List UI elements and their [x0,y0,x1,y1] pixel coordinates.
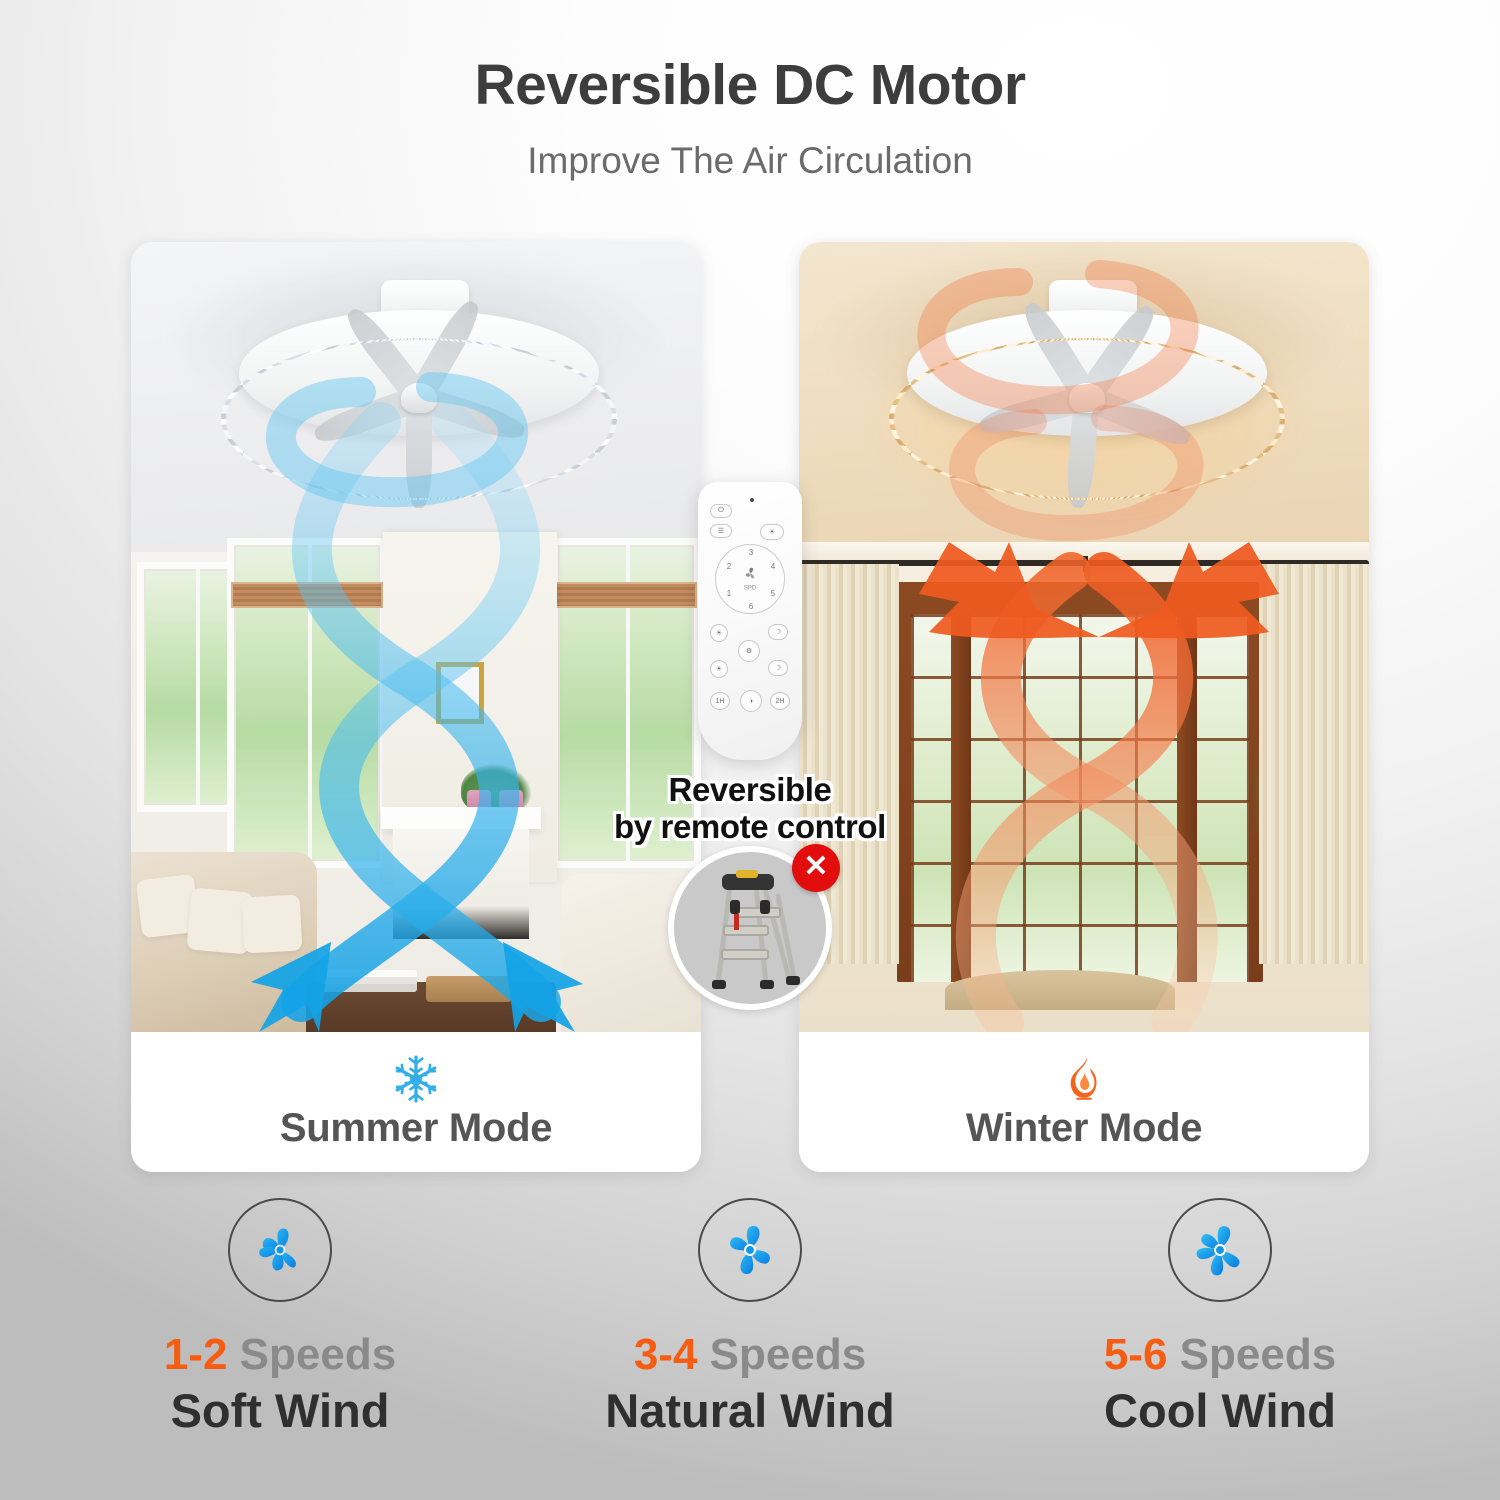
prohibition-badge: ✕ [792,844,840,892]
curtain-right [1259,564,1369,964]
dial-number-4[interactable]: 4 [768,562,778,571]
summer-mode-label: Summer Mode [131,1032,701,1172]
speed-range-line-3: 5-6 Speeds [995,1332,1445,1378]
snowflake-icon [391,1054,441,1104]
fan-badge-2 [698,1198,802,1302]
gear-icon: ⚙ [746,647,752,655]
timer-2h-button[interactable]: 2H [770,692,790,710]
brightness-down-button[interactable]: ☀ [710,660,728,678]
timer-toggle-button[interactable]: ◑ [740,690,762,712]
dial-number-1[interactable]: 1 [724,589,734,598]
fan-icon [717,1217,783,1283]
half-moon-icon: ◑ [749,698,753,705]
speed-range-line-2: 3-4 Speeds [525,1332,975,1378]
menu-icon: ☰ [718,527,724,535]
dial-number-2[interactable]: 2 [724,562,734,571]
moon-icon: ☽ [775,664,781,672]
page-subtitle: Improve The Air Circulation [0,140,1500,182]
crystal-light-ring [221,338,617,500]
fan-badge-3 [1168,1198,1272,1302]
timer-1h-label: 1H [716,698,725,705]
page-title: Reversible DC Motor [0,56,1500,116]
dial-number-5[interactable]: 5 [768,589,778,598]
serving-tray [426,976,512,1002]
speed-tier-3: 5-6 Speeds Cool Wind [995,1198,1445,1436]
timer-1h-button[interactable]: 1H [710,692,730,710]
reversible-caption: Reversible by remote control [0,772,1500,846]
header: Reversible DC Motor Improve The Air Circ… [0,56,1500,182]
brightness-up-button[interactable]: ☀ [710,624,728,642]
framed-picture [436,662,484,724]
wind-type-2: Natural Wind [525,1386,975,1435]
ceiling-fan-fixture-summer [199,276,639,546]
no-ladder-badge: ✕ [668,846,832,1010]
books-stack [321,970,417,992]
summer-scene [131,242,701,1032]
summer-mode-text: Summer Mode [280,1106,552,1151]
close-icon: ✕ [803,852,828,882]
fan-icon [247,1217,313,1283]
remote-led-indicator [750,498,754,502]
speed-range-2: 3-4 [634,1330,698,1379]
infographic-canvas: Reversible DC Motor Improve The Air Circ… [0,0,1500,1500]
power-button[interactable]: ⏻ [710,504,732,518]
remote-body: ⏻ ☰ ☀ 3 2 4 1 5 6 [698,482,802,760]
sun-icon: ☀ [716,665,722,673]
window-blind-left [231,582,383,608]
fan-icon [1187,1217,1253,1283]
light-button[interactable]: ☀ [760,524,784,540]
speed-unit-3: Speeds [1180,1330,1337,1379]
dial-number-6[interactable]: 6 [746,602,756,611]
winter-mode-panel: Winter Mode [799,242,1369,1172]
moon-icon: ☽ [775,628,781,636]
winter-scene [799,242,1369,1032]
sun-icon: ☀ [716,629,722,637]
speed-unit-1: Speeds [240,1330,397,1379]
speed-range-1: 1-2 [164,1330,228,1379]
window-blind-right [555,582,697,608]
caption-line-2: by remote control [0,809,1500,846]
power-icon: ⏻ [718,507,724,515]
mode-button[interactable]: ☰ [710,524,732,538]
winter-mode-label: Winter Mode [799,1032,1369,1172]
dial-number-3[interactable]: 3 [746,548,756,557]
speed-tier-2: 3-4 Speeds Natural Wind [525,1198,975,1436]
wind-type-3: Cool Wind [995,1386,1445,1435]
speed-dial[interactable]: 3 2 4 1 5 6 SPD [715,544,785,614]
fan-badge-1 [228,1198,332,1302]
center-function-button[interactable]: ⚙ [738,640,760,662]
speed-unit-2: Speeds [710,1330,867,1379]
wind-type-1: Soft Wind [55,1386,505,1435]
speed-range-line-1: 1-2 Speeds [55,1332,505,1378]
dial-center-label: SPD [742,586,758,592]
winter-mode-text: Winter Mode [966,1106,1202,1151]
sun-icon: ☀ [769,528,775,536]
flame-icon [1059,1054,1109,1104]
speed-range-3: 5-6 [1104,1330,1168,1379]
crystal-light-ring [889,338,1285,500]
floor-rug [945,970,1175,1010]
warm-light-button[interactable]: ☽ [768,624,788,640]
cool-light-button[interactable]: ☽ [768,660,788,676]
summer-mode-panel: Summer Mode [131,242,701,1172]
dial-center-fan[interactable]: SPD [742,567,758,592]
speed-tier-1: 1-2 Speeds Soft Wind [55,1198,505,1436]
caption-line-1: Reversible [0,772,1500,809]
fan-icon [742,567,758,581]
cushion [242,895,303,954]
timer-2h-label: 2H [776,698,785,705]
ceiling-fan-fixture-winter [867,276,1307,546]
remote-control[interactable]: ⏻ ☰ ☀ 3 2 4 1 5 6 [698,482,802,760]
